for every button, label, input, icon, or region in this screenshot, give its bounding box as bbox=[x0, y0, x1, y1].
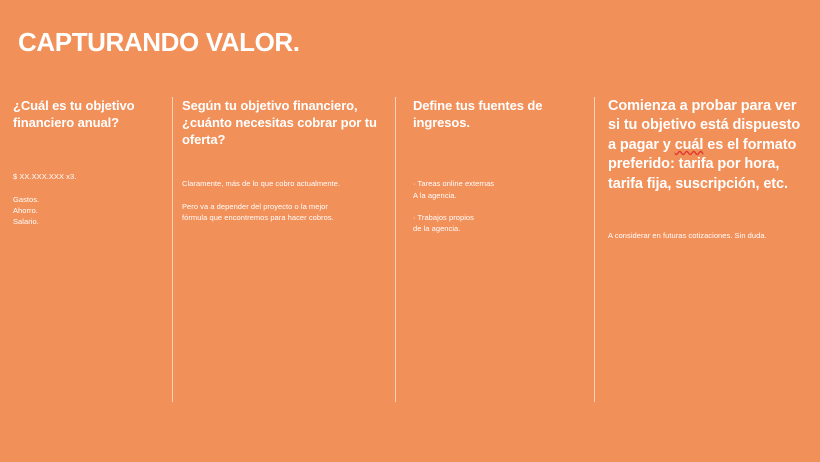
column-cuanto-cobrar: Según tu objetivo financiero, ¿cuánto ne… bbox=[172, 97, 395, 402]
columns-container: ¿Cuál es tu objetivo financiero anual? $… bbox=[0, 97, 820, 402]
column-objetivo-financiero: ¿Cuál es tu objetivo financiero anual? $… bbox=[0, 97, 172, 402]
column-heading: Según tu objetivo financiero, ¿cuánto ne… bbox=[182, 97, 383, 148]
column-fuentes-ingresos: Define tus fuentes de ingresos. · Tareas… bbox=[395, 97, 594, 402]
slide: CAPTURANDO VALOR. ¿Cuál es tu objetivo f… bbox=[0, 0, 820, 462]
column-heading: ¿Cuál es tu objetivo financiero anual? bbox=[13, 97, 162, 131]
column-body: A considerar en futuras cotizaciones. Si… bbox=[608, 230, 810, 241]
body-paragraph: A considerar en futuras cotizaciones. Si… bbox=[608, 230, 810, 241]
body-line: Ahorro. bbox=[13, 205, 162, 216]
heading-spellcheck-error: cuál bbox=[675, 137, 704, 153]
page-title: CAPTURANDO VALOR. bbox=[18, 28, 300, 57]
column-body: · Tareas online externas A la agencia. ·… bbox=[413, 178, 582, 234]
column-heading: Define tus fuentes de ingresos. bbox=[413, 97, 582, 131]
body-paragraph: · Trabajos propios de la agencia. bbox=[413, 212, 582, 235]
body-line: · Trabajos propios bbox=[413, 212, 582, 223]
body-line: Pero va a depender del proyecto o la mej… bbox=[182, 201, 383, 212]
body-paragraph: · Tareas online externas A la agencia. bbox=[413, 178, 582, 201]
column-body: Claramente, más de lo que cobro actualme… bbox=[182, 178, 383, 223]
column-comienza-probar: Comienza a probar para ver si tu objetiv… bbox=[594, 97, 820, 402]
body-paragraph: Pero va a depender del proyecto o la mej… bbox=[182, 201, 383, 224]
body-line: Gastos. bbox=[13, 194, 162, 205]
body-paragraph: $ XX.XXX.XXX x3. bbox=[13, 171, 162, 182]
column-heading: Comienza a probar para ver si tu objetiv… bbox=[608, 97, 810, 194]
body-line: Salario. bbox=[13, 216, 162, 227]
body-line: A considerar en futuras cotizaciones. Si… bbox=[608, 230, 810, 241]
column-body: $ XX.XXX.XXX x3. Gastos. Ahorro. Salario… bbox=[13, 171, 162, 227]
body-line: Claramente, más de lo que cobro actualme… bbox=[182, 178, 383, 189]
body-line: A la agencia. bbox=[413, 190, 582, 201]
body-line: · Tareas online externas bbox=[413, 178, 582, 189]
body-paragraph: Claramente, más de lo que cobro actualme… bbox=[182, 178, 383, 189]
body-paragraph: Gastos. Ahorro. Salario. bbox=[13, 194, 162, 228]
body-line: fórmula que encontremos para hacer cobro… bbox=[182, 212, 383, 223]
body-line: de la agencia. bbox=[413, 223, 582, 234]
body-line: $ XX.XXX.XXX x3. bbox=[13, 171, 162, 182]
